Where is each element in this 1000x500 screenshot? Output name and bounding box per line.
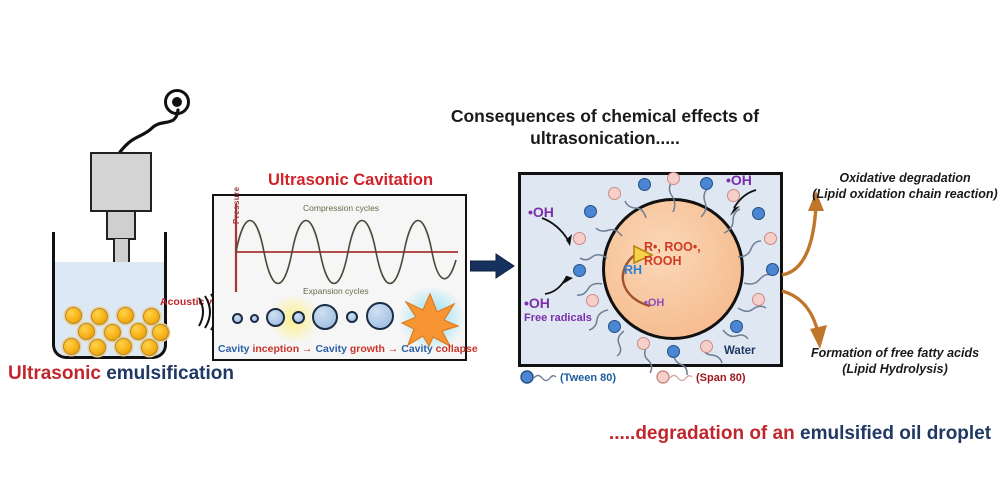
- outcome-bottom-line1: Formation of free fatty acids: [811, 346, 979, 360]
- stage-arrow-1: →: [299, 343, 315, 355]
- radical-arrow-top-right-icon: [716, 188, 760, 224]
- compression-cycles-label: Compression cycles: [303, 203, 379, 213]
- expansion-cycles-label: Expansion cycles: [303, 286, 369, 296]
- bottom-summary-caption: .....degradation of an emulsified oil dr…: [600, 422, 1000, 446]
- bottom-caption-red: .....degradation of an: [609, 423, 800, 444]
- starburst-icon: [400, 292, 460, 348]
- pressure-wave-plot: [222, 200, 462, 300]
- radical-arrow-bottom-left-icon: [543, 262, 591, 298]
- oxidation-products-label: R•, ROO•, ROOH: [644, 240, 701, 268]
- outcome-oxidative-degradation: Oxidative degradation (Lipid oxidation c…: [790, 170, 1000, 202]
- outcome-bottom-line2: (Lipid Hydrolysis): [842, 362, 948, 376]
- power-cable-icon: [118, 104, 180, 156]
- outcome-top-line1: Oxidative degradation: [839, 171, 970, 185]
- products-line-1: R•, ROO•,: [644, 240, 701, 254]
- free-radical-label-top-right: •OH: [726, 172, 752, 188]
- water-phase-label: Water: [724, 345, 756, 357]
- cavitation-panel-title: Ultrasonic Cavitation: [268, 171, 433, 190]
- caption-navy-part: emulsification: [101, 363, 234, 384]
- span80-symbol-icon: [656, 370, 694, 386]
- stage-cavity-2: Cavity: [315, 343, 349, 355]
- free-radicals-caption: Free radicals: [524, 312, 592, 324]
- transition-arrow-icon: [470, 252, 516, 282]
- inner-radical-label: •OH: [644, 297, 664, 309]
- beaker-vessel: [52, 232, 167, 359]
- stage-cavity-3: Cavity: [401, 343, 435, 355]
- tween80-symbol-icon: [520, 370, 558, 386]
- caption-red-part: Ultrasonic: [8, 363, 101, 384]
- stage-inception: inception: [252, 343, 299, 355]
- radical-arrow-top-left-icon: [540, 216, 590, 252]
- stage-growth: growth: [350, 343, 385, 355]
- page-headline: Consequences of chemical effects of ultr…: [420, 105, 790, 149]
- stage-collapse: collapse: [436, 343, 478, 355]
- outcome-branch-arrows-icon: [780, 175, 850, 355]
- pressure-axis-label: Pressure: [232, 187, 241, 224]
- bottom-caption-navy: emulsified oil droplet: [800, 423, 991, 444]
- outcome-top-line2: (Lipid oxidation chain reaction): [812, 187, 997, 201]
- stage-cavity-1: Cavity: [218, 343, 252, 355]
- cavity-growth-glow: [266, 296, 322, 342]
- ultrasonic-transducer: [90, 152, 152, 212]
- cavitation-stages-caption: Cavity inception → Cavity growth → Cavit…: [218, 343, 463, 355]
- span80-legend-label: (Span 80): [696, 372, 746, 384]
- tween80-legend-label: (Tween 80): [560, 372, 616, 384]
- outcome-free-fatty-acids: Formation of free fatty acids (Lipid Hyd…: [780, 345, 1000, 377]
- products-line-2: ROOH: [644, 254, 682, 268]
- rh-reactant-label: RH: [624, 263, 642, 277]
- stage-arrow-2: →: [385, 343, 401, 355]
- ultrasonic-emulsification-caption: Ultrasonic emulsification: [8, 363, 234, 385]
